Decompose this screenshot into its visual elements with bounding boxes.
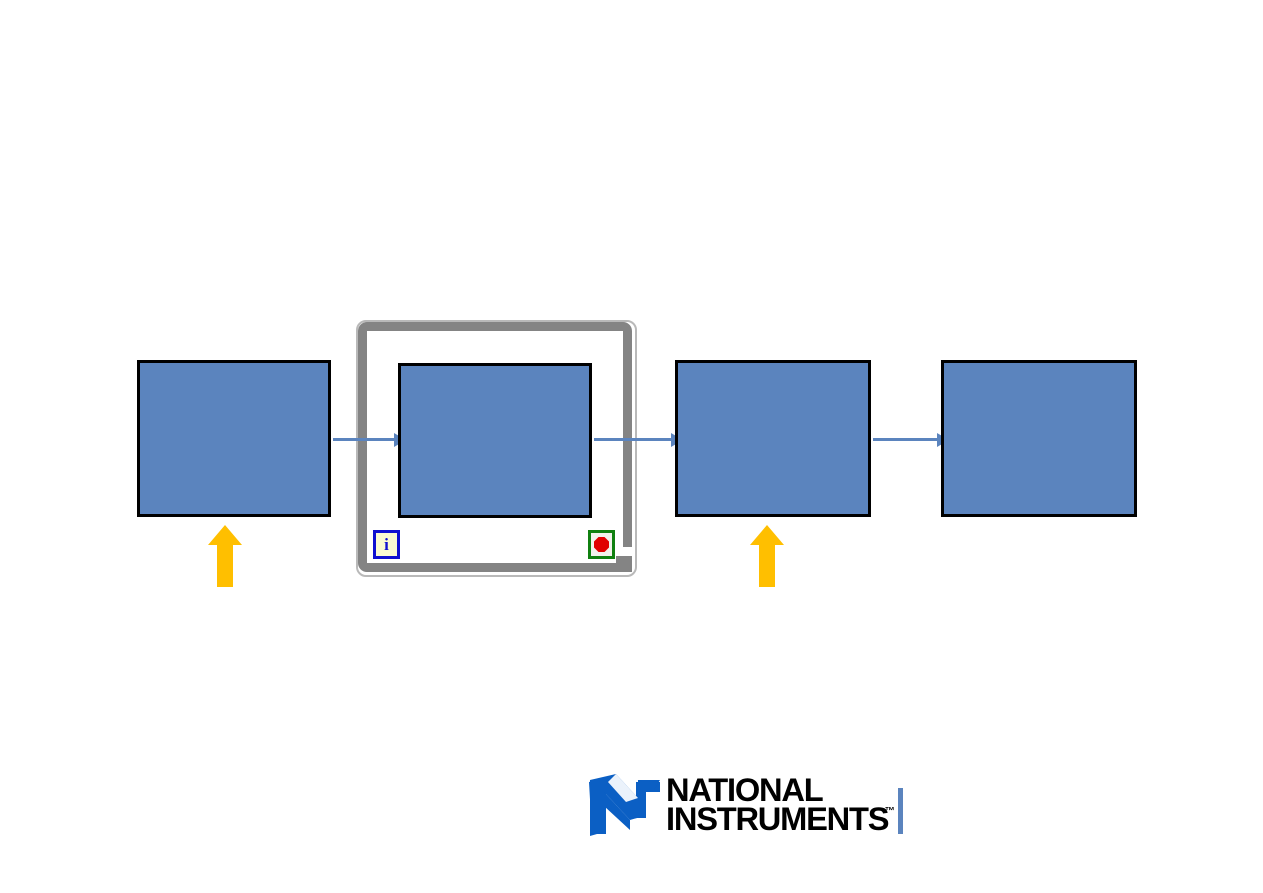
callout-arrow-up-2 bbox=[746, 525, 788, 587]
stop-sign-icon bbox=[594, 537, 609, 552]
process-box-2[interactable] bbox=[398, 363, 592, 518]
iteration-terminal-label: i bbox=[384, 536, 389, 553]
connector-wire-3[interactable] bbox=[873, 438, 939, 441]
while-loop-corner-tab bbox=[616, 556, 632, 572]
process-box-1[interactable] bbox=[137, 360, 331, 517]
process-box-2-label bbox=[401, 366, 589, 515]
connector-wire-2[interactable] bbox=[594, 438, 673, 441]
while-loop-corner-notch bbox=[623, 547, 632, 556]
connector-wire-1[interactable] bbox=[333, 438, 396, 441]
ni-wordmark: NATIONAL INSTRUMENTS ™ bbox=[666, 776, 895, 835]
process-box-4-label bbox=[944, 363, 1134, 514]
ni-eagle-mark bbox=[586, 772, 664, 838]
slide-canvas: i NATIONAL INSTRUMENTS ™ bbox=[0, 0, 1263, 893]
callout-arrow-up-1 bbox=[204, 525, 246, 587]
process-box-1-label bbox=[140, 363, 328, 514]
footer-divider bbox=[898, 788, 903, 834]
national-instruments-logo: NATIONAL INSTRUMENTS ™ bbox=[586, 772, 895, 838]
process-box-4[interactable] bbox=[941, 360, 1137, 517]
stop-condition-terminal-icon[interactable] bbox=[588, 530, 615, 559]
iteration-terminal-icon[interactable]: i bbox=[373, 530, 400, 559]
process-box-3-label bbox=[678, 363, 868, 514]
process-box-3[interactable] bbox=[675, 360, 871, 517]
ni-wordmark-line2: INSTRUMENTS bbox=[666, 805, 888, 834]
